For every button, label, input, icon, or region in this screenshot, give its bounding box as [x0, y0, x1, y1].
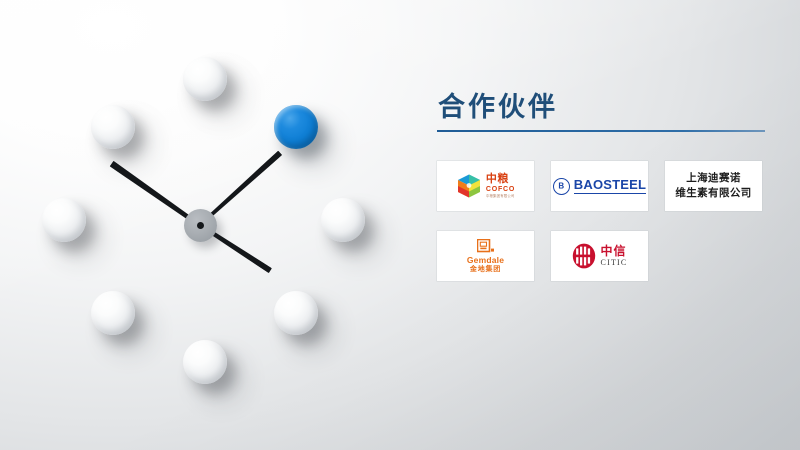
- citic-wordmark: 中信 CITIC: [601, 245, 628, 267]
- page-title: 合作伙伴: [437, 92, 767, 123]
- citic-emblem-icon: [572, 243, 596, 269]
- baosteel-emblem-icon: [553, 178, 570, 195]
- partner-card-citic[interactable]: 中信 CITIC: [551, 231, 648, 281]
- gemdale-name-en: Gemdale: [467, 256, 504, 265]
- partner-card-gemdale[interactable]: Gemdale 金地集团: [437, 231, 534, 281]
- partner-card-cofco[interactable]: 中粮 COFCO 中粮集团有限公司: [437, 161, 534, 211]
- cofco-name-en: COFCO: [486, 186, 515, 193]
- clock-marker-highlight: [274, 105, 318, 149]
- wall-clock: [20, 45, 380, 405]
- cofco-cube-icon: [456, 173, 482, 199]
- clock-marker-7: [91, 291, 135, 335]
- clock-marker-6: [183, 340, 227, 384]
- clock-marker-4: [274, 291, 318, 335]
- gemdale-name-cn: 金地集团: [470, 266, 501, 274]
- slide-canvas: 合作伙伴 中粮 COFCO: [0, 0, 800, 450]
- title-underline: [437, 130, 765, 132]
- partner-card-desano[interactable]: 上海迪赛诺 维生素有限公司: [665, 161, 762, 211]
- clock-marker-10: [91, 105, 135, 149]
- cofco-subtitle: 中粮集团有限公司: [486, 195, 515, 198]
- citic-name-cn: 中信: [601, 245, 628, 258]
- citic-name-en: CITIC: [601, 259, 628, 267]
- clock-marker-12: [183, 57, 227, 101]
- desano-wordmark: 上海迪赛诺 维生素有限公司: [675, 171, 751, 201]
- clock-marker-9: [42, 198, 86, 242]
- desano-name-line1: 上海迪赛诺: [675, 171, 751, 186]
- clock-marker-3: [321, 198, 365, 242]
- partner-card-baosteel[interactable]: BAOSTEEL: [551, 161, 648, 211]
- desano-name-line2: 维生素有限公司: [675, 186, 751, 201]
- partner-logo-grid: 中粮 COFCO 中粮集团有限公司 BAOSTEEL 上海迪赛诺 维生素有限公司: [437, 161, 767, 281]
- cofco-wordmark: 中粮 COFCO 中粮集团有限公司: [486, 174, 515, 198]
- gemdale-mark-icon: [477, 239, 494, 255]
- clock-center-hub: [184, 209, 217, 242]
- baosteel-wordmark: BAOSTEEL: [574, 178, 646, 194]
- cofco-name-cn: 中粮: [486, 174, 515, 185]
- partners-panel: 合作伙伴 中粮 COFCO: [437, 92, 767, 281]
